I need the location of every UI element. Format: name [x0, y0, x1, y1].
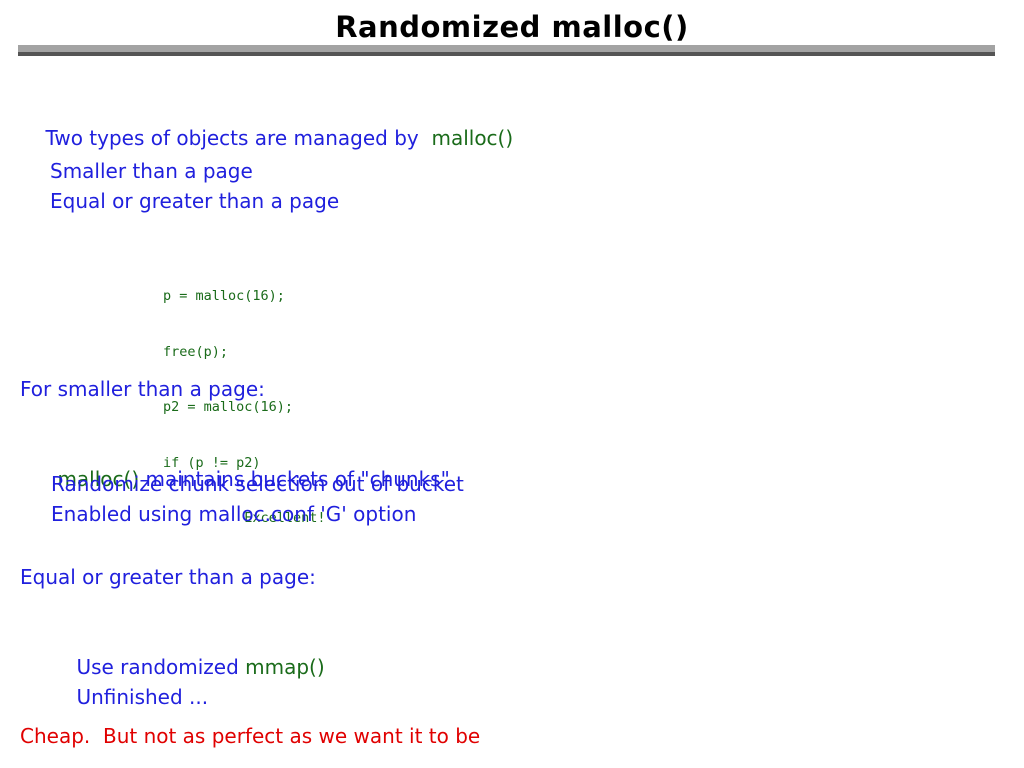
code-line-1: free(p); [163, 343, 326, 362]
section-small-bullet-0: Randomize chunk selection out of bucket [51, 471, 464, 497]
section-large-bullet-1-text-before: Unfinished ... [76, 685, 208, 709]
section-small-bullet-1: Enabled using malloc.conf 'G' option [51, 501, 416, 527]
divider-highlight [18, 45, 995, 52]
slide-canvas: Randomized malloc() Two types of objects… [0, 0, 1024, 768]
code-line-0: p = malloc(16); [163, 287, 326, 306]
title-divider-rule [18, 45, 995, 56]
slide-title-bar: Randomized malloc() [0, 10, 1024, 44]
intro-code-term: malloc() [431, 126, 513, 150]
section-large-heading: Equal or greater than a page: [20, 564, 316, 590]
object-type-item-0: Smaller than a page [50, 158, 253, 184]
page-title: Randomized malloc() [335, 10, 689, 44]
intro-text: Two types of objects are managed by [45, 126, 431, 150]
section-large-bullet-0-code-term: mmap() [245, 655, 325, 679]
divider-shadow [18, 52, 995, 56]
object-type-item-1: Equal or greater than a page [50, 188, 339, 214]
closing-note: Cheap. But not as perfect as we want it … [20, 723, 480, 749]
section-small-heading: For smaller than a page: [20, 376, 265, 402]
